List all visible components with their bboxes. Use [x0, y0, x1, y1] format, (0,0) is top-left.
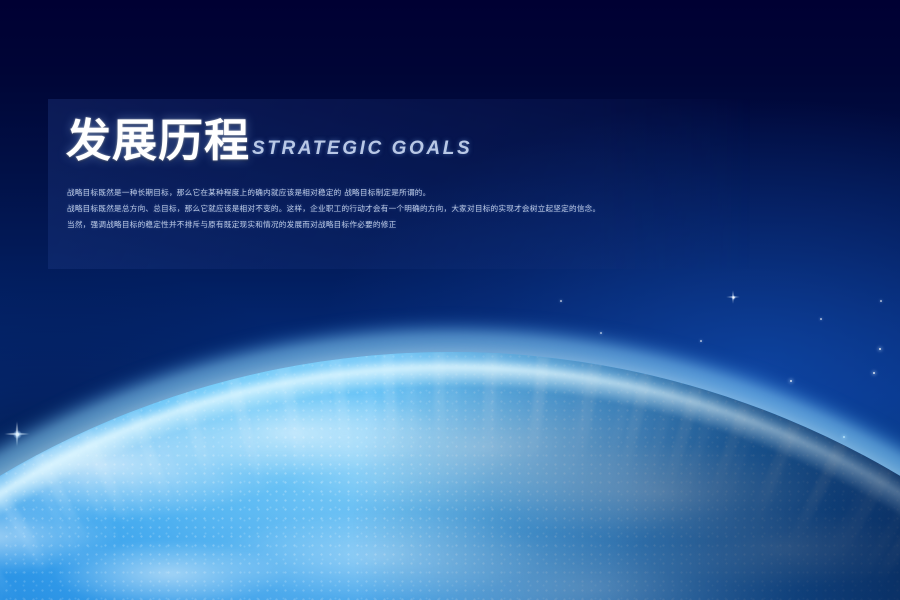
hero-banner: 发展历程 STRATEGIC GOALS 战略目标既然是一种长期目标，那么它在某… — [0, 0, 900, 600]
body-copy: 战略目标既然是一种长期目标，那么它在某种程度上的确内就应该是相对稳定的 战略目标… — [67, 187, 687, 235]
body-line-3: 当然，强调战略目标的稳定性并不排斥与原有既定现实和情况的发展而对战略目标作必要的… — [67, 219, 687, 231]
page-title: 发展历程 — [66, 118, 250, 163]
page-subtitle: STRATEGIC GOALS — [252, 138, 472, 163]
body-line-1: 战略目标既然是一种长期目标，那么它在某种程度上的确内就应该是相对稳定的 战略目标… — [67, 187, 687, 199]
body-line-2: 战略目标既然是总方向、总目标，那么它就应该是相对不变的。这样，企业职工的行动才会… — [67, 203, 687, 215]
headline: 发展历程 STRATEGIC GOALS — [66, 118, 472, 163]
sky-glow-left — [0, 0, 900, 600]
